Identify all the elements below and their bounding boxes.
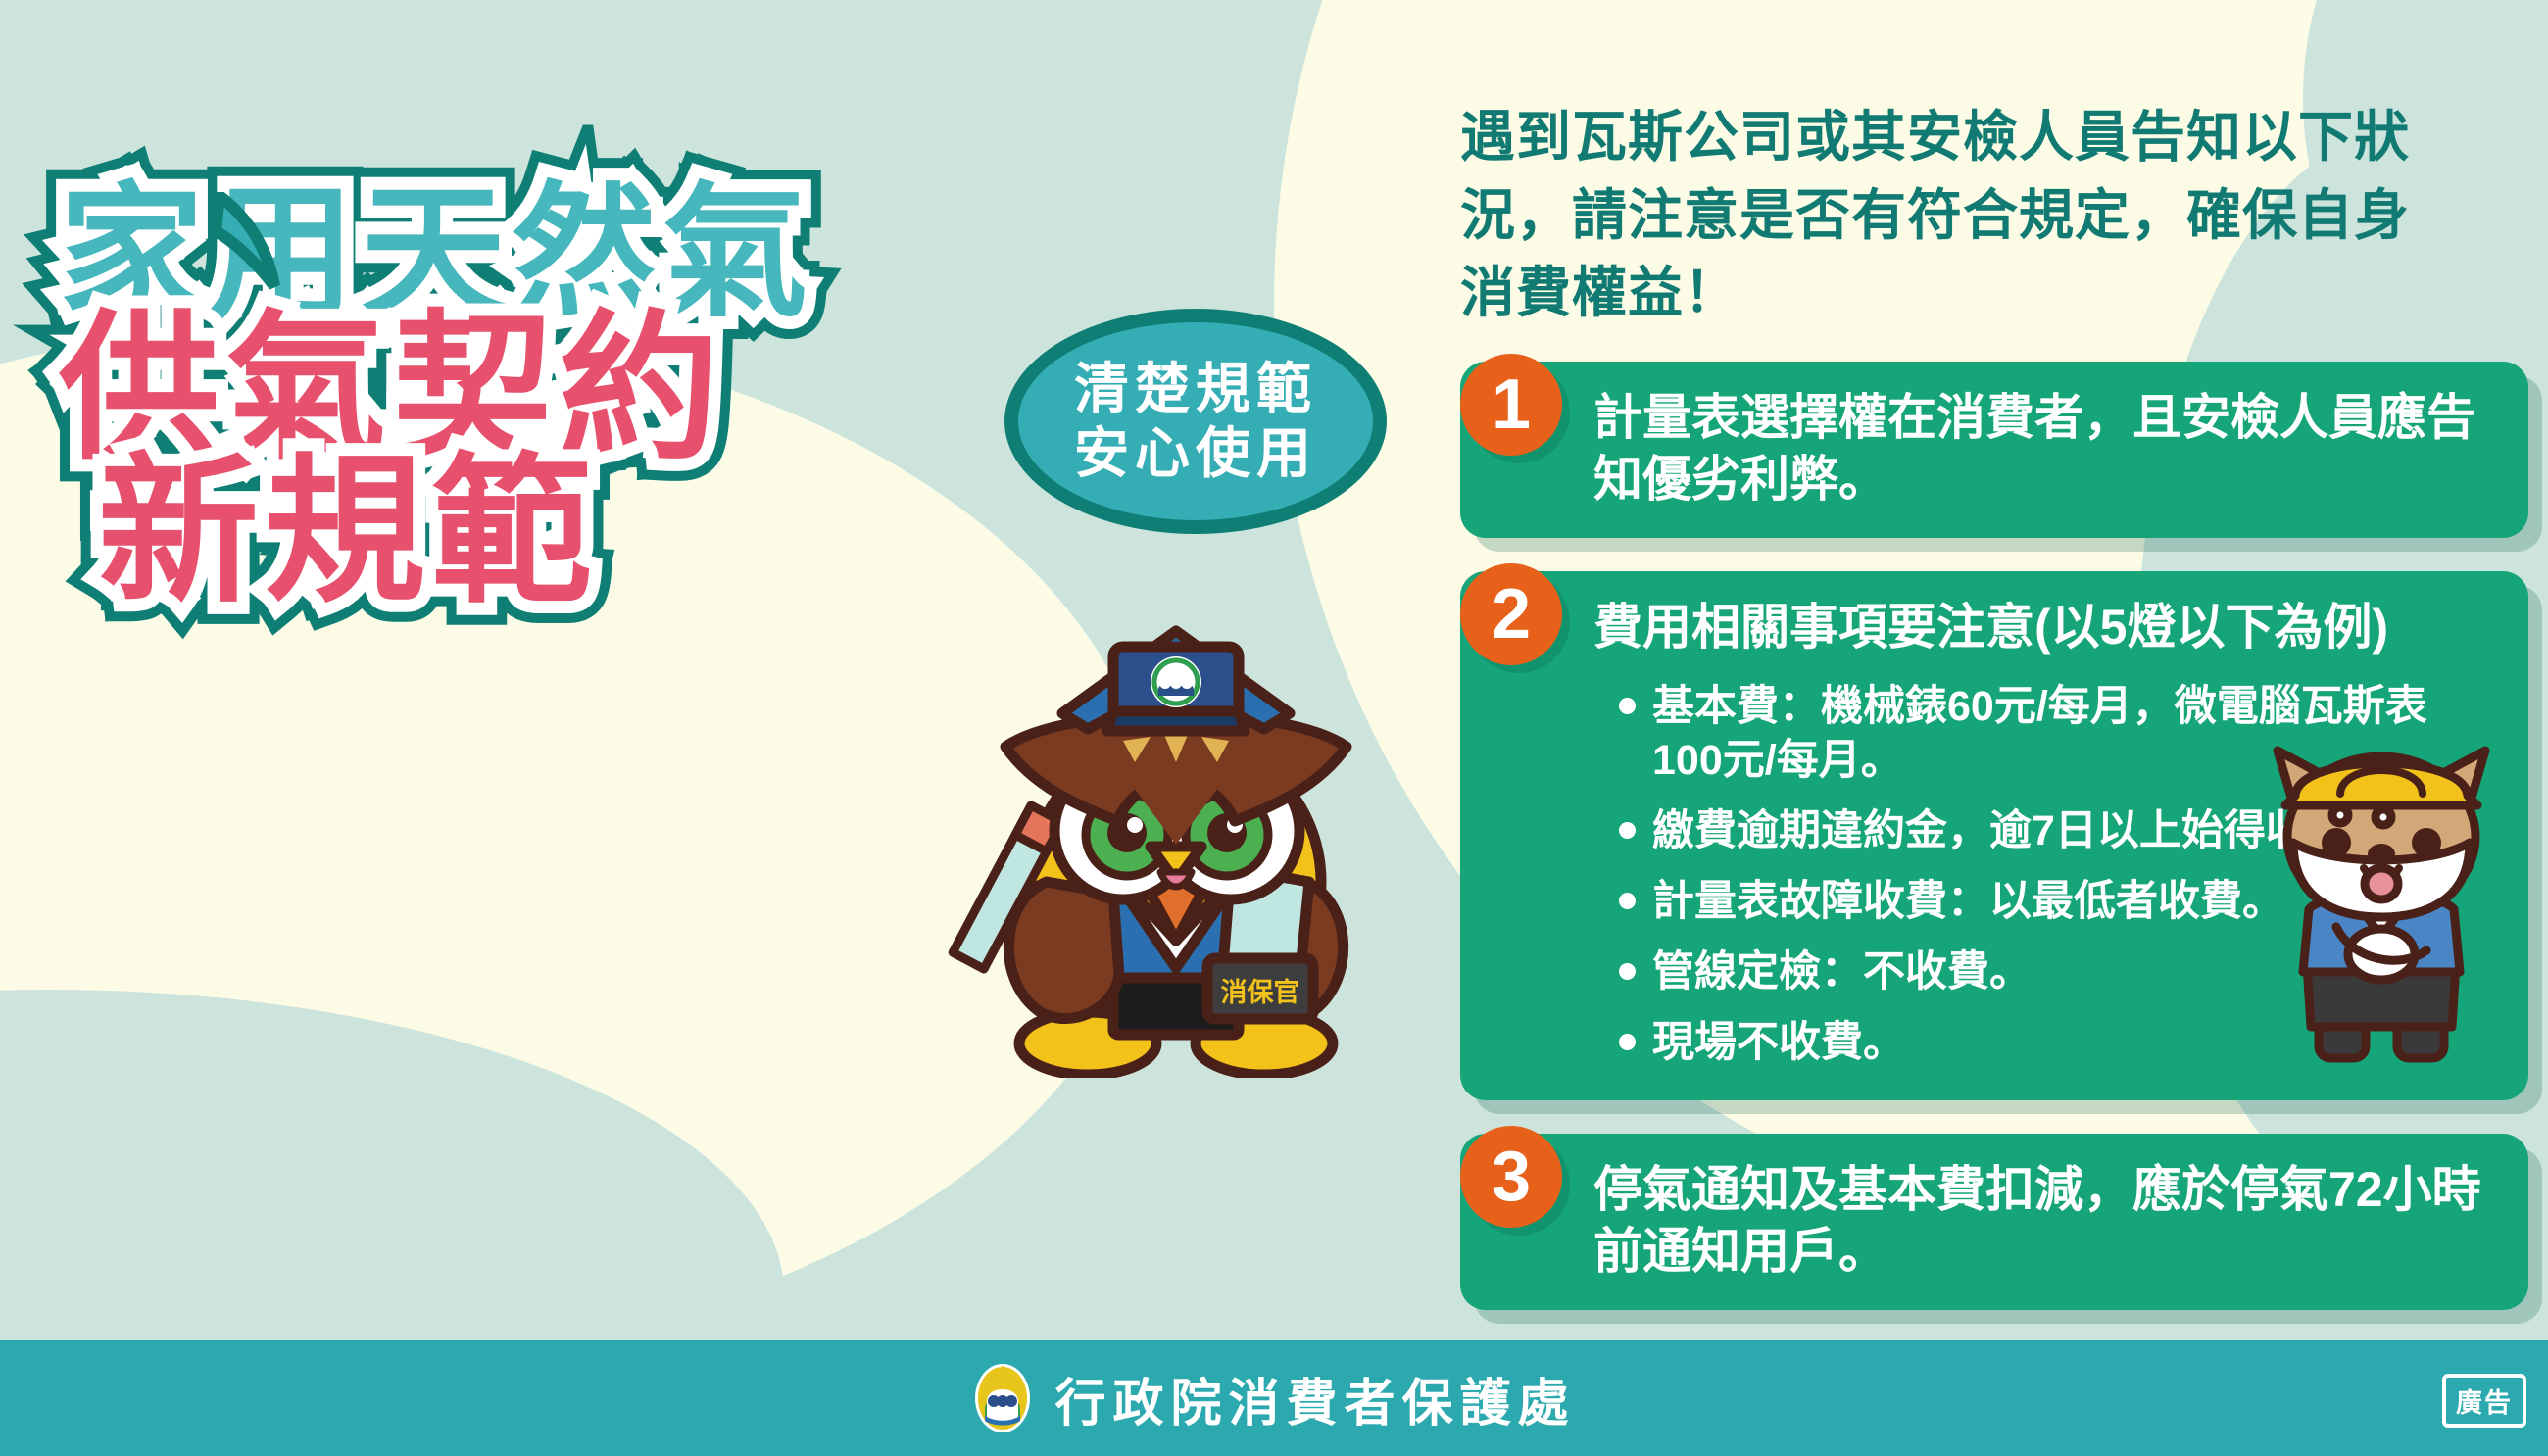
owl-badge-text: 消保官	[1221, 977, 1300, 1007]
list-item-2-number-badge: 2	[1460, 563, 1562, 665]
list-item-1: 計量表選擇權在消費者，且安檢人員應告知優劣利弊。 1	[1460, 362, 2528, 538]
list-item-3-number-badge: 3	[1460, 1126, 1562, 1228]
list-item-1-card: 計量表選擇權在消費者，且安檢人員應告知優劣利弊。	[1460, 362, 2528, 538]
ad-badge: 廣告	[2442, 1374, 2526, 1428]
list-item-3-text: 停氣通知及基本費扣減，應於停氣72小時前通知用戶。	[1593, 1159, 2495, 1283]
list-item-1-text: 計量表選擇權在消費者，且安檢人員應告知優劣利弊。	[1593, 387, 2495, 510]
list-item-1-number-badge: 1	[1460, 354, 1562, 456]
poster-headline: 家用天然氣 家用天然氣 供氣契約 供氣契約 新規範 新規範	[59, 181, 1058, 595]
speech-bubble-line-1: 清楚規範	[1074, 357, 1317, 421]
headline-line-3-wrap: 新規範 新規範	[59, 452, 1058, 612]
list-item-2-heading: 費用相關事項要注意(以5燈以下為例)	[1593, 597, 2495, 658]
dog-mascot-inspector	[2234, 745, 2528, 1068]
footer-content: 行政院消費者保護處	[972, 1360, 1575, 1436]
headline-line-3: 新規範	[59, 452, 1058, 612]
cpc-logo-icon	[972, 1360, 1033, 1436]
speech-bubble-tail	[214, 192, 288, 290]
poster-canvas: 家用天然氣 家用天然氣 供氣契約 供氣契約 新規範 新規範 清楚規範 安心使用	[0, 0, 2548, 1456]
speech-bubble-line-2: 安心使用	[1074, 421, 1317, 486]
list-item-3: 停氣通知及基本費扣減，應於停氣72小時前通知用戶。 3	[1460, 1134, 2528, 1310]
owl-mascot-consumer-officer: 消保官	[941, 588, 1411, 1078]
footer-agency-name: 行政院消費者保護處	[1054, 1362, 1575, 1435]
speech-bubble: 清楚規範 安心使用	[1004, 309, 1387, 534]
speech-bubble-body: 清楚規範 安心使用	[1004, 309, 1387, 534]
intro-paragraph: 遇到瓦斯公司或其安檢人員告知以下狀況，請注意是否有符合規定，確保自身消費權益！	[1460, 98, 2450, 332]
footer-bar: 行政院消費者保護處 廣告	[0, 1340, 2548, 1456]
content-column: 遇到瓦斯公司或其安檢人員告知以下狀況，請注意是否有符合規定，確保自身消費權益！ …	[1460, 98, 2528, 1343]
list-item-3-card: 停氣通知及基本費扣減，應於停氣72小時前通知用戶。	[1460, 1134, 2528, 1310]
